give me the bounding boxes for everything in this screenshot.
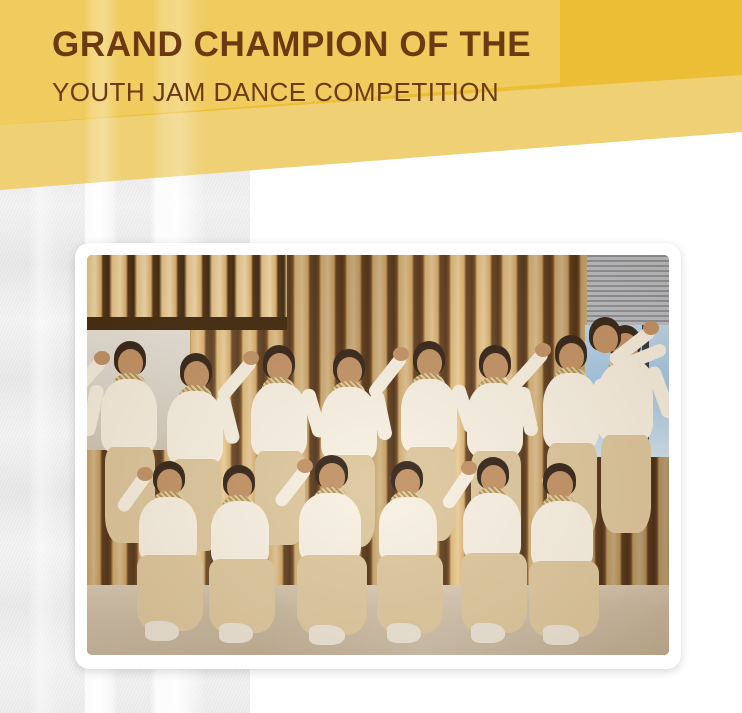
page-subtitle: YOUTH JAM DANCE COMPETITION — [52, 77, 692, 108]
ceiling-grille — [587, 255, 669, 327]
wall-dark-beam — [87, 317, 287, 330]
team-photo — [87, 255, 669, 655]
page-title: GRAND CHAMPION OF THE — [52, 24, 692, 65]
title-block: GRAND CHAMPION OF THE YOUTH JAM DANCE CO… — [52, 24, 692, 108]
wall-left-slat-panel — [87, 255, 287, 317]
photo-card — [75, 243, 681, 669]
slide-canvas: GRAND CHAMPION OF THE YOUTH JAM DANCE CO… — [0, 0, 742, 713]
